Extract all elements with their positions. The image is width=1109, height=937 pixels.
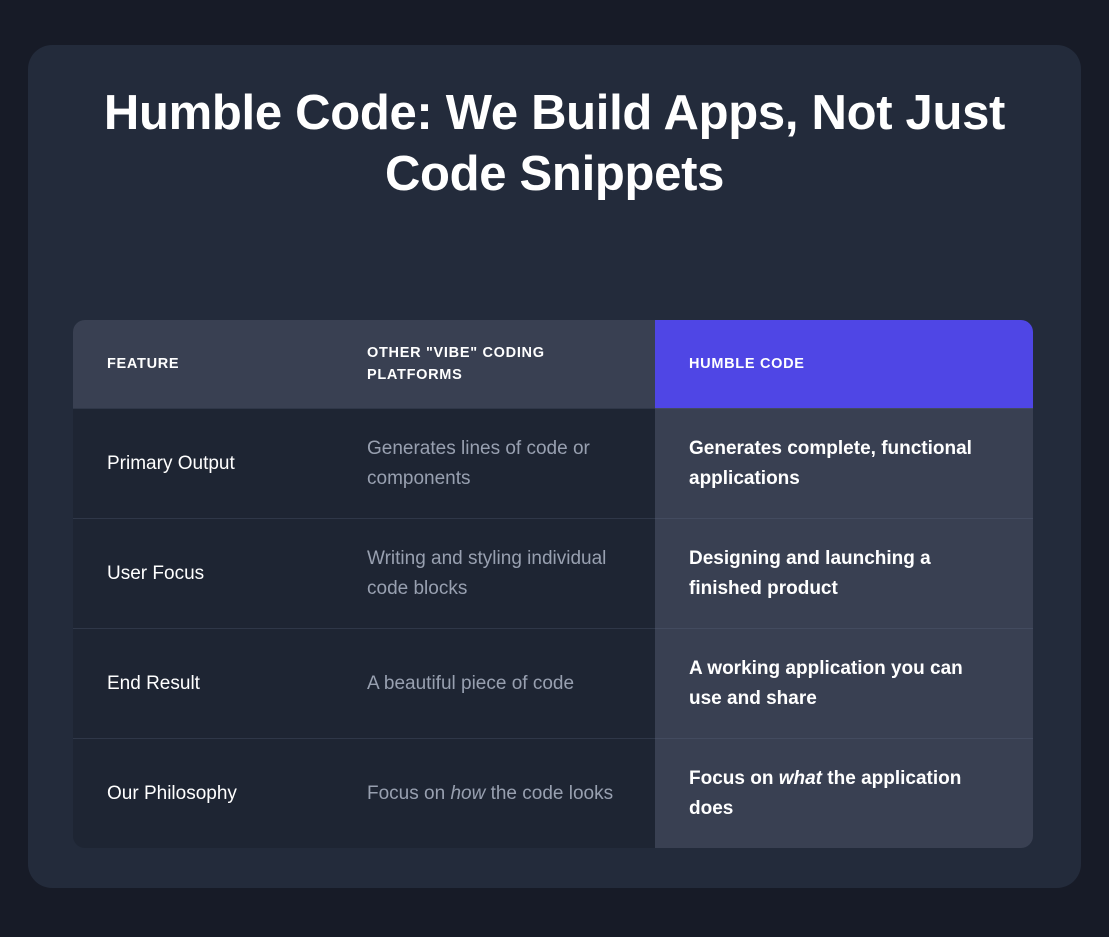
cell-feature: User Focus [73, 518, 333, 628]
column-header-feature-label: FEATURE [107, 353, 179, 375]
cell-feature: Primary Output [73, 408, 333, 518]
feature-label: Our Philosophy [107, 781, 237, 807]
column-header-feature: FEATURE [73, 320, 333, 408]
column-header-humble-code-label: HUMBLE CODE [689, 353, 805, 375]
cell-feature: End Result [73, 628, 333, 738]
page-root: Humble Code: We Build Apps, Not Just Cod… [0, 0, 1109, 937]
feature-label: Primary Output [107, 451, 235, 477]
cell-feature: Our Philosophy [73, 738, 333, 848]
humble-code-text: Generates complete, functional applicati… [689, 434, 999, 494]
table-row: Our Philosophy Focus on how the code loo… [73, 738, 1033, 848]
page-title: Humble Code: We Build Apps, Not Just Cod… [88, 83, 1021, 205]
cell-humble-code: Designing and launching a finished produ… [655, 518, 1033, 628]
humble-code-text: A working application you can use and sh… [689, 654, 999, 714]
column-header-humble-code: HUMBLE CODE [655, 320, 1033, 408]
other-platforms-text: Focus on how the code looks [367, 779, 613, 809]
other-platforms-text: Writing and styling individual code bloc… [367, 544, 621, 604]
cell-other-platforms: Generates lines of code or components [333, 408, 655, 518]
other-platforms-text: A beautiful piece of code [367, 669, 574, 699]
column-header-other-platforms-label: OTHER "VIBE" CODING PLATFORMS [367, 342, 621, 386]
cell-humble-code: Generates complete, functional applicati… [655, 408, 1033, 518]
table-row: User Focus Writing and styling individua… [73, 518, 1033, 628]
comparison-table: FEATURE OTHER "VIBE" CODING PLATFORMS HU… [73, 320, 1033, 848]
feature-label: End Result [107, 671, 200, 697]
column-header-other-platforms: OTHER "VIBE" CODING PLATFORMS [333, 320, 655, 408]
other-platforms-text: Generates lines of code or components [367, 434, 621, 494]
table-row: Primary Output Generates lines of code o… [73, 408, 1033, 518]
cell-humble-code: Focus on what the application does [655, 738, 1033, 848]
feature-label: User Focus [107, 561, 204, 587]
cell-other-platforms: A beautiful piece of code [333, 628, 655, 738]
humble-code-text: Focus on what the application does [689, 764, 999, 824]
humble-code-text: Designing and launching a finished produ… [689, 544, 999, 604]
cell-other-platforms: Writing and styling individual code bloc… [333, 518, 655, 628]
table-header-row: FEATURE OTHER "VIBE" CODING PLATFORMS HU… [73, 320, 1033, 408]
cell-other-platforms: Focus on how the code looks [333, 738, 655, 848]
cell-humble-code: A working application you can use and sh… [655, 628, 1033, 738]
content-card: Humble Code: We Build Apps, Not Just Cod… [28, 45, 1081, 888]
table-row: End Result A beautiful piece of code A w… [73, 628, 1033, 738]
